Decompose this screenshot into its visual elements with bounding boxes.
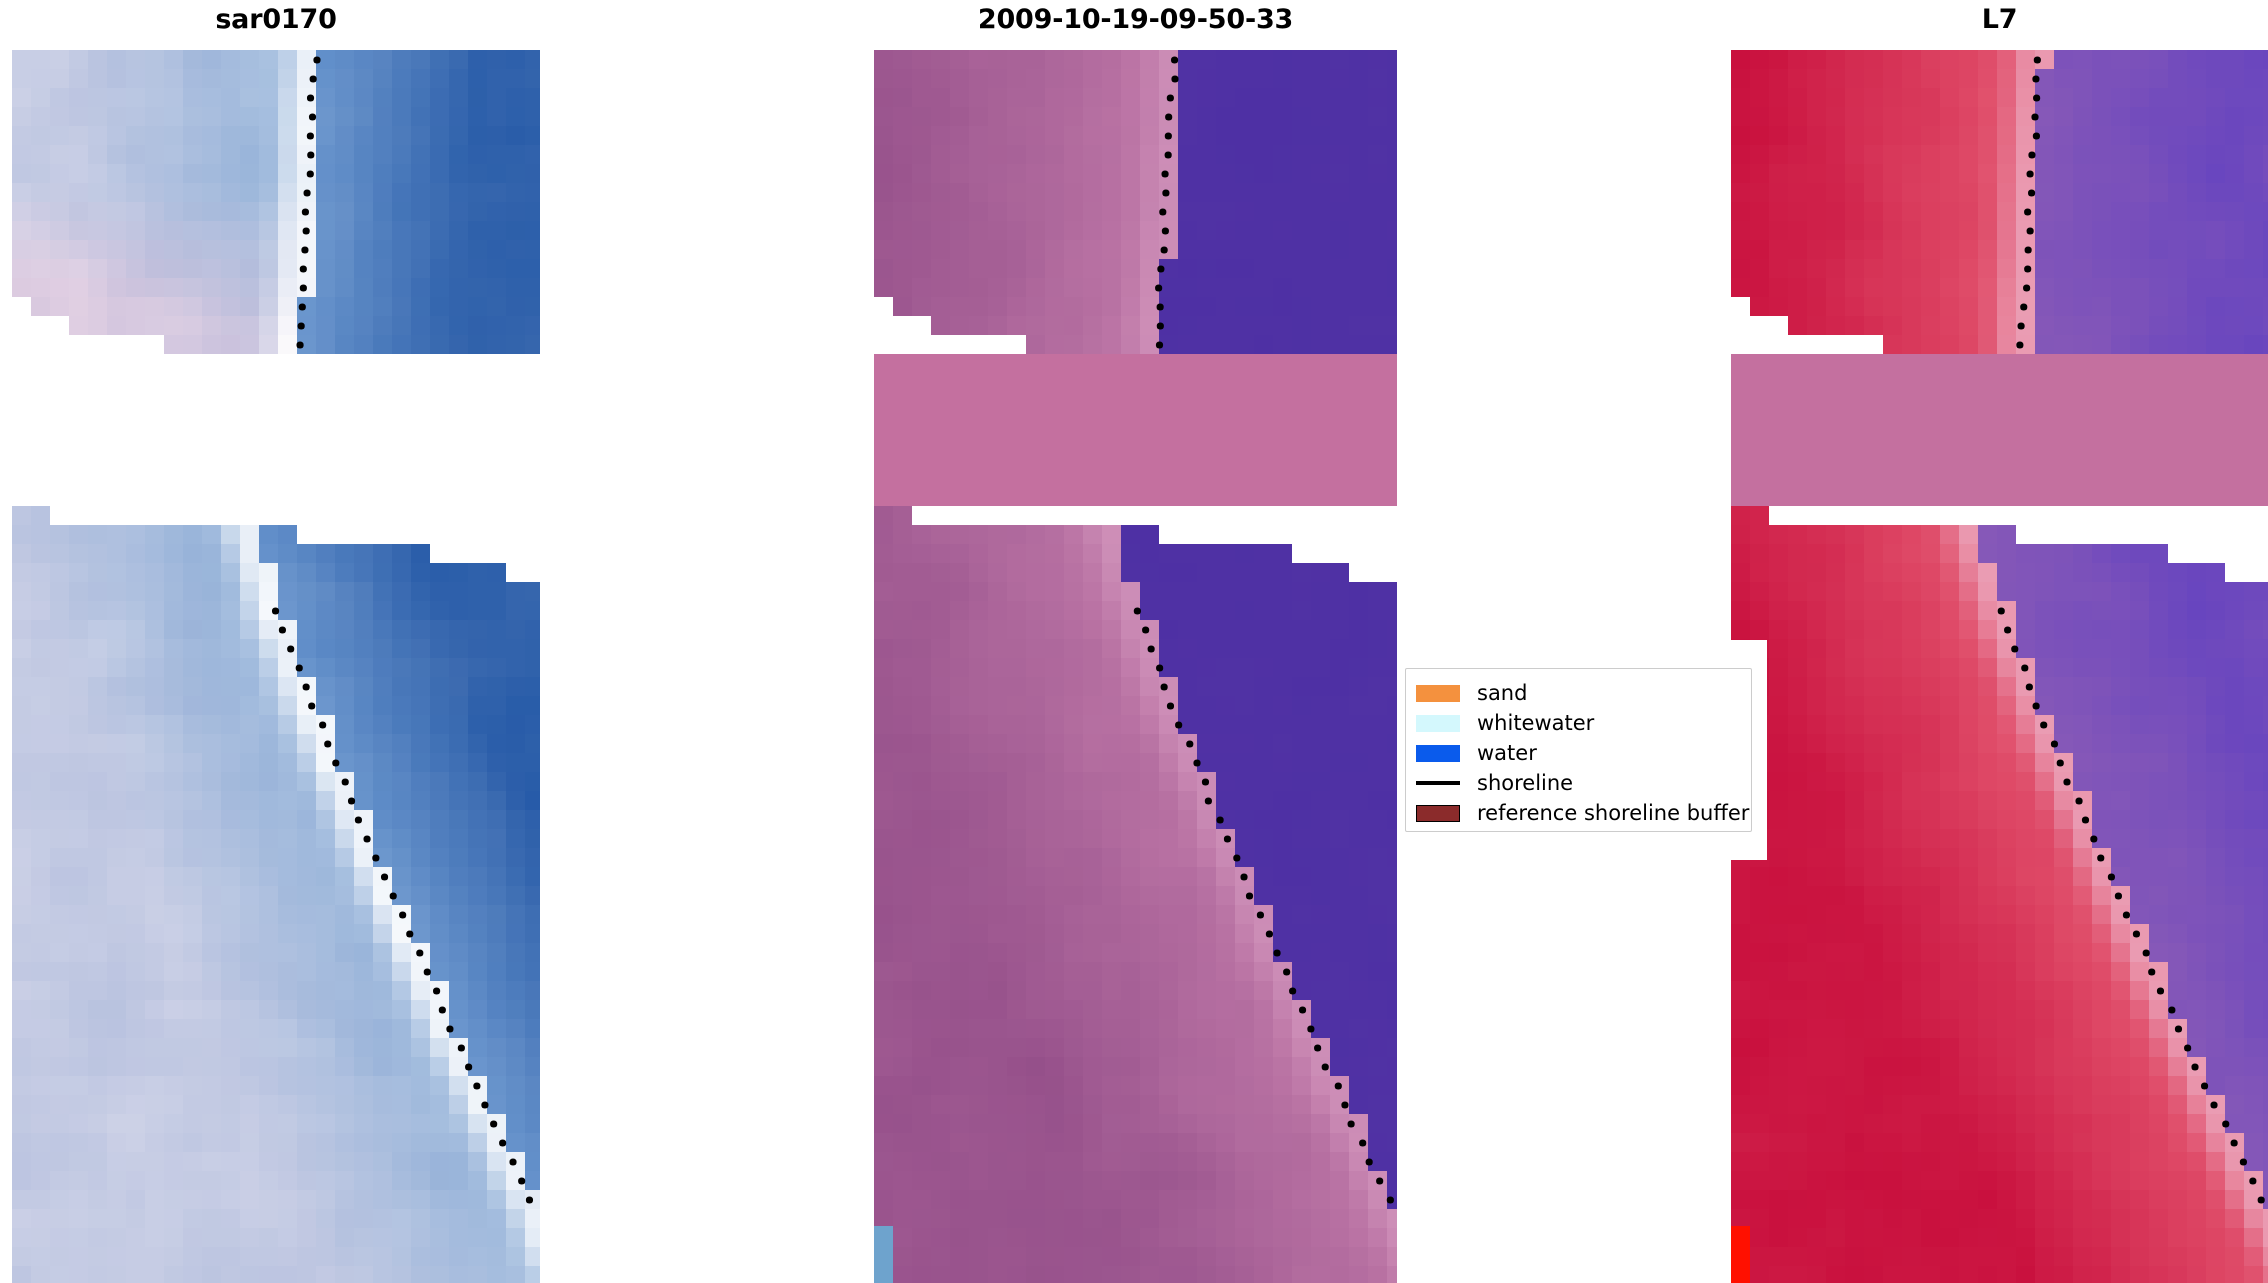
sar-panel[interactable] <box>12 50 540 1283</box>
legend-label-sand: sand <box>1477 683 1527 704</box>
map-legend[interactable]: sandwhitewaterwatershorelinereference sh… <box>1405 668 1752 832</box>
legend-label-whitewater: whitewater <box>1477 713 1594 734</box>
l7-panel[interactable] <box>1731 50 2268 1283</box>
legend-swatch-sand-icon <box>1416 685 1460 702</box>
figure-canvas: sar0170 2009-10-19-09-50-33 L7 sandwhite… <box>0 0 2268 1283</box>
classified-panel-canvas <box>874 50 1397 1283</box>
l7-panel-title: L7 <box>1731 4 2268 35</box>
sar-raster <box>12 50 540 1283</box>
legend-swatch-water-icon <box>1416 745 1460 762</box>
legend-swatch-whitewater-icon <box>1416 715 1460 732</box>
legend-item-reference-shoreline-buffer[interactable]: reference shoreline buffer <box>1416 798 1740 828</box>
classified-panel-title: 2009-10-19-09-50-33 <box>874 4 1397 35</box>
l7-panel-canvas <box>1731 50 2268 1283</box>
legend-label-reference-shoreline-buffer: reference shoreline buffer <box>1477 803 1749 824</box>
l7-raster <box>1731 50 2268 1283</box>
legend-item-whitewater[interactable]: whitewater <box>1416 708 1740 738</box>
legend-item-sand[interactable]: sand <box>1416 678 1740 708</box>
legend-item-shoreline[interactable]: shoreline <box>1416 768 1740 798</box>
classified-panel[interactable] <box>874 50 1397 1283</box>
classified-raster <box>874 50 1397 1283</box>
legend-swatch-shoreline-icon <box>1416 781 1460 785</box>
sar-panel-title: sar0170 <box>12 4 540 35</box>
legend-label-water: water <box>1477 743 1537 764</box>
legend-label-shoreline: shoreline <box>1477 773 1573 794</box>
sar-panel-canvas <box>12 50 540 1283</box>
legend-swatch-reference-shoreline-buffer-icon <box>1416 805 1460 822</box>
legend-item-water[interactable]: water <box>1416 738 1740 768</box>
